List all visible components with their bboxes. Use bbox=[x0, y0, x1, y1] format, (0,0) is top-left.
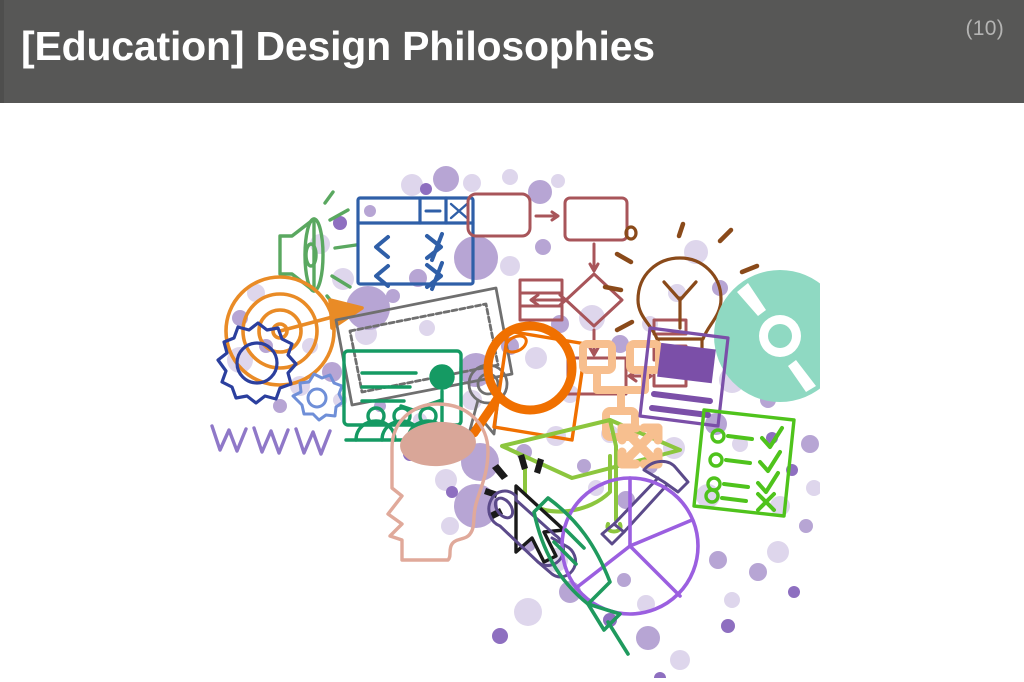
purple-dot-field bbox=[227, 166, 820, 678]
slide-page-number: (10) bbox=[965, 17, 1004, 41]
magnifying-glass-icon bbox=[474, 326, 586, 440]
code-bracket-glyphs bbox=[376, 234, 442, 289]
www-text-icon bbox=[212, 426, 330, 454]
header-left-accent-stripe bbox=[0, 0, 4, 103]
slide-content-area: .s{fill:none;stroke-linecap:round;stroke… bbox=[0, 103, 1024, 682]
page-title: [Education] Design Philosophies bbox=[21, 21, 655, 72]
flowchart-diagram-icon bbox=[468, 194, 686, 394]
slide-header-bar: [Education] Design Philosophies (10) bbox=[0, 0, 1024, 103]
brain-shaped-doodle-collage: .s{fill:none;stroke-linecap:round;stroke… bbox=[180, 148, 820, 678]
